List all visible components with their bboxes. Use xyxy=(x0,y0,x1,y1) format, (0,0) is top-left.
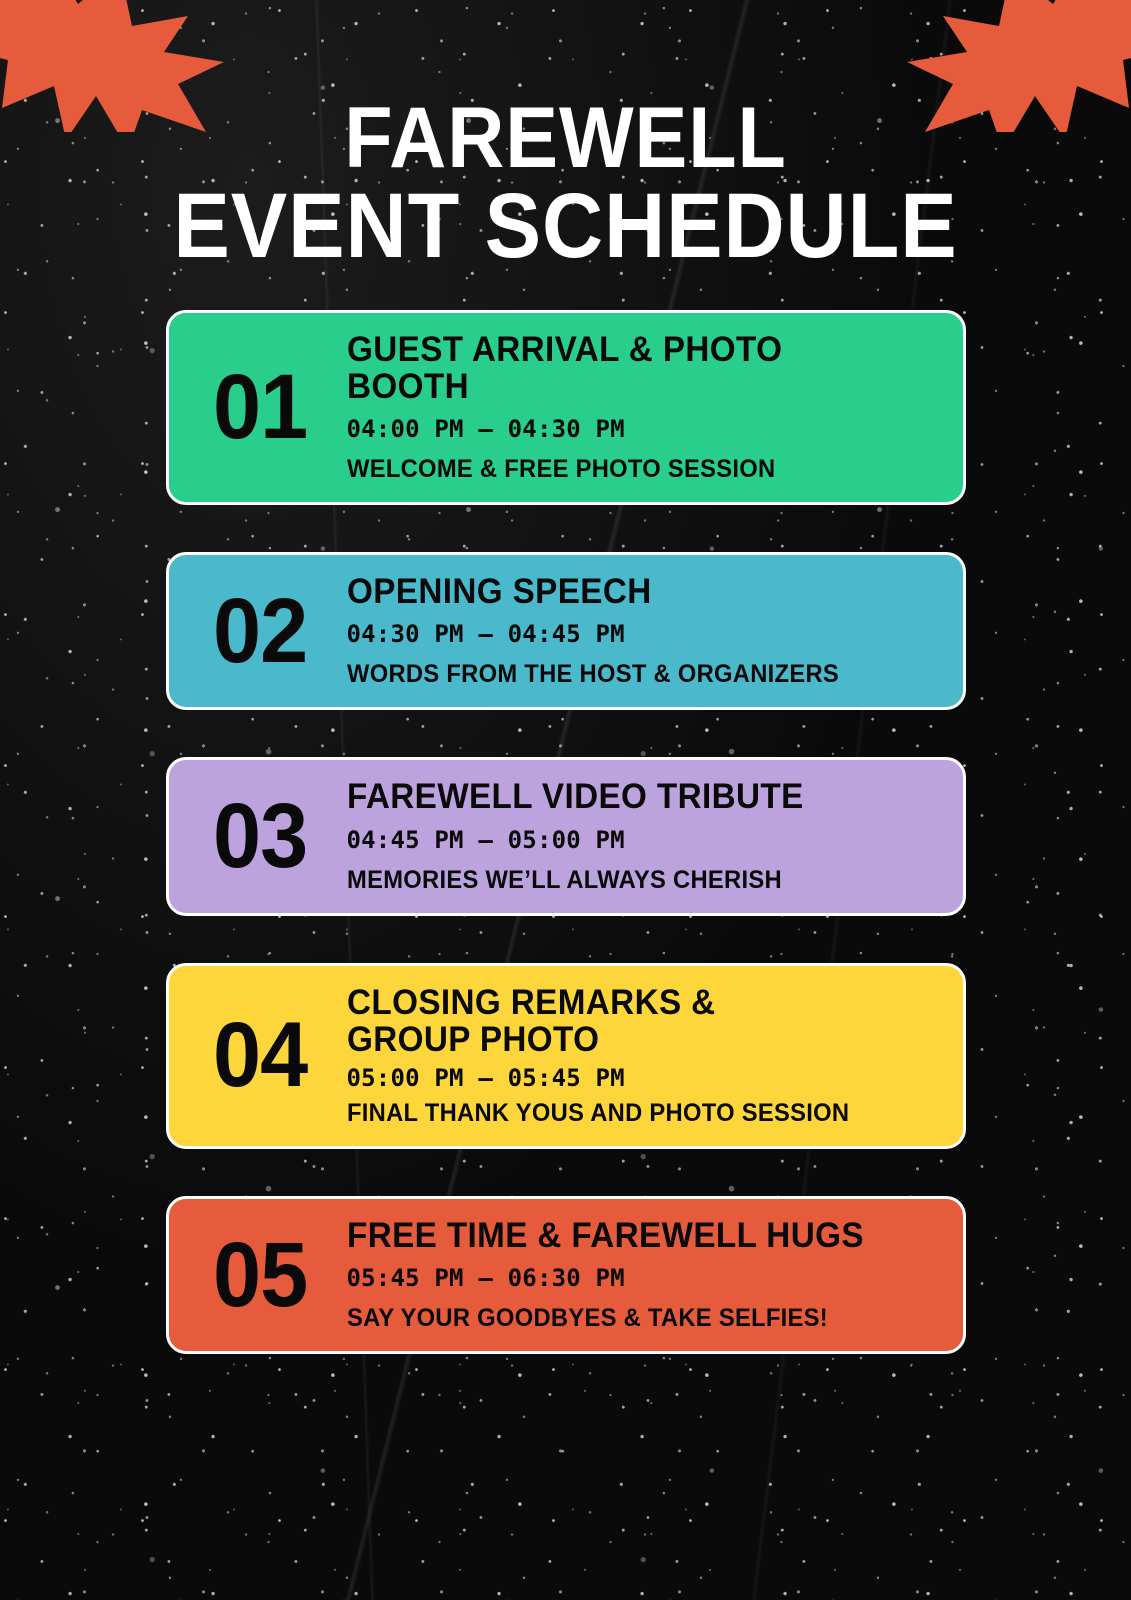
schedule-item-body: GUEST ARRIVAL & PHOTO BOOTH 04:00 PM – 0… xyxy=(341,331,937,484)
schedule-item-body: FREE TIME & FAREWELL HUGS 05:45 PM – 06:… xyxy=(341,1217,937,1333)
schedule-item-time: 05:00 PM – 05:45 PM xyxy=(347,1064,937,1092)
schedule-item-time: 04:00 PM – 04:30 PM xyxy=(347,415,937,443)
schedule-item-02[interactable]: 02 OPENING SPEECH 04:30 PM – 04:45 PM WO… xyxy=(166,552,966,710)
schedule-item-04[interactable]: 04 CLOSING REMARKS & GROUP PHOTO 05:00 P… xyxy=(166,963,966,1149)
schedule-item-time: 04:30 PM – 04:45 PM xyxy=(347,620,937,648)
title-line-1: FAREWELL xyxy=(45,96,1086,181)
schedule-item-01[interactable]: 01 GUEST ARRIVAL & PHOTO BOOTH 04:00 PM … xyxy=(166,310,966,505)
schedule-item-number: 02 xyxy=(212,589,336,674)
schedule-item-time: 05:45 PM – 06:30 PM xyxy=(347,1264,937,1292)
schedule-item-number: 04 xyxy=(212,1013,336,1098)
schedule-item-body: OPENING SPEECH 04:30 PM – 04:45 PM WORDS… xyxy=(341,573,937,689)
schedule-item-body: CLOSING REMARKS & GROUP PHOTO 05:00 PM –… xyxy=(341,984,937,1128)
schedule-item-03[interactable]: 03 FAREWELL VIDEO TRIBUTE 04:45 PM – 05:… xyxy=(166,757,966,915)
schedule-item-description: WORDS FROM THE HOST & ORGANIZERS xyxy=(347,660,908,689)
schedule-item-description: WELCOME & FREE PHOTO SESSION xyxy=(347,455,908,484)
schedule-item-number: 01 xyxy=(212,365,336,450)
schedule-item-description: FINAL THANK YOUS AND PHOTO SESSION xyxy=(347,1099,908,1128)
schedule-item-title: GUEST ARRIVAL & PHOTO BOOTH xyxy=(347,331,908,405)
schedule-item-number: 05 xyxy=(212,1233,336,1318)
schedule-item-description: MEMORIES WE’LL ALWAYS CHERISH xyxy=(347,866,908,895)
schedule-item-title: CLOSING REMARKS & GROUP PHOTO xyxy=(347,984,908,1058)
schedule-item-body: FAREWELL VIDEO TRIBUTE 04:45 PM – 05:00 … xyxy=(341,778,937,894)
schedule-item-time: 04:45 PM – 05:00 PM xyxy=(347,826,937,854)
schedule-item-description: SAY YOUR GOODBYES & TAKE SELFIES! xyxy=(347,1304,908,1333)
schedule-item-title: OPENING SPEECH xyxy=(347,573,908,610)
title-line-2: EVENT SCHEDULE xyxy=(45,181,1086,272)
schedule-list: 01 GUEST ARRIVAL & PHOTO BOOTH 04:00 PM … xyxy=(0,272,1131,1354)
schedule-item-title: FREE TIME & FAREWELL HUGS xyxy=(347,1217,908,1254)
event-schedule-poster: FAREWELL EVENT SCHEDULE 01 GUEST ARRIVAL… xyxy=(0,0,1131,1600)
schedule-item-title: FAREWELL VIDEO TRIBUTE xyxy=(347,778,908,815)
schedule-item-05[interactable]: 05 FREE TIME & FAREWELL HUGS 05:45 PM – … xyxy=(166,1196,966,1354)
page-title: FAREWELL EVENT SCHEDULE xyxy=(0,0,1131,272)
schedule-item-number: 03 xyxy=(212,794,336,879)
